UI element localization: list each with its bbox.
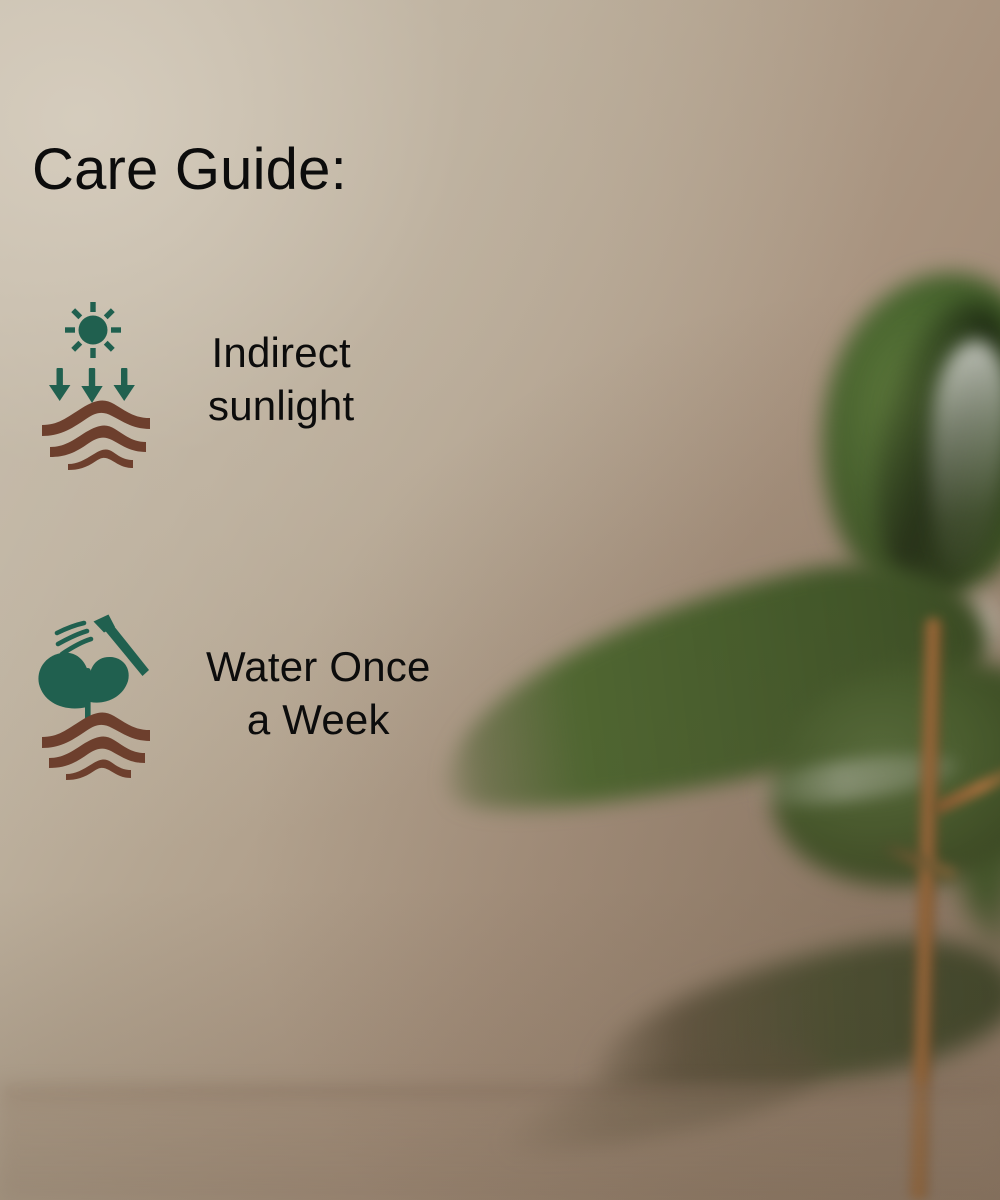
down-arrow-icon bbox=[114, 368, 135, 401]
water-spray-icon bbox=[57, 623, 91, 654]
care-item-sunlight: Indirect sunlight bbox=[40, 290, 354, 470]
page-title: Care Guide: bbox=[32, 140, 347, 201]
soil-waves-icon bbox=[42, 401, 150, 470]
care-item-label-sunlight: Indirect sunlight bbox=[208, 327, 354, 433]
sun-icon bbox=[79, 316, 108, 345]
sun-arrows-soil-icon bbox=[40, 290, 166, 470]
soil-waves-icon bbox=[42, 713, 150, 780]
sprout-watering-can-soil-icon bbox=[36, 608, 162, 780]
care-item-label-water: Water Once a Week bbox=[206, 641, 431, 747]
down-arrow-icon bbox=[81, 368, 102, 403]
care-guide-overlay: Care Guide: bbox=[0, 0, 1000, 1200]
care-item-water: Water Once a Week bbox=[36, 608, 431, 780]
down-arrow-icon bbox=[49, 368, 70, 401]
down-arrows-group-icon bbox=[49, 368, 135, 403]
